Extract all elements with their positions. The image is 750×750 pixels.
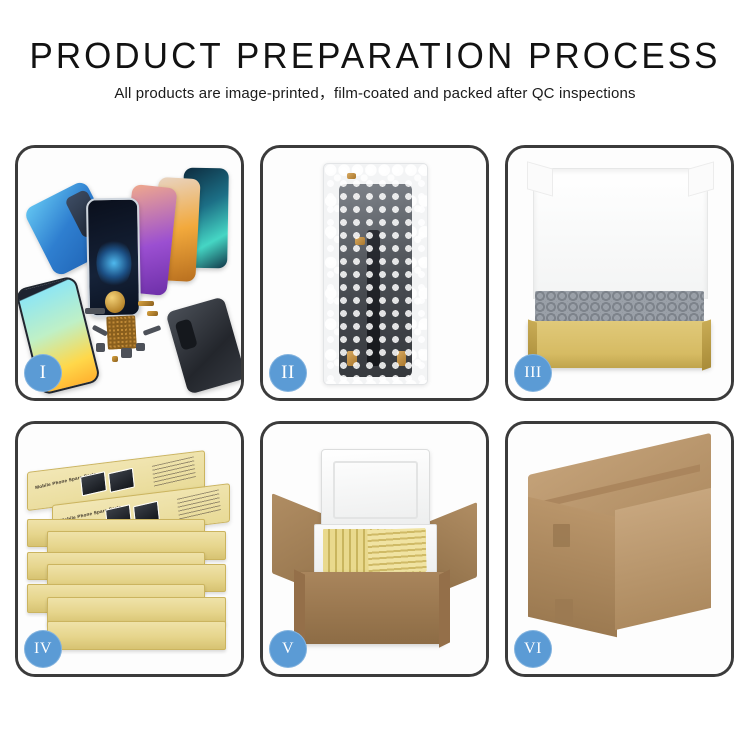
step-panel-bubble-wrap: II: [260, 145, 489, 401]
small-chip-2: [121, 348, 132, 358]
box-window-back-1: [80, 471, 107, 497]
box-stack: Mobile Phone Spare Parts Mobile Phone Sp…: [27, 449, 232, 654]
earpiece-chip: [85, 308, 105, 314]
flex-cable-1: [91, 325, 107, 337]
step-panel-carton-loading: V: [260, 421, 489, 677]
bubble-wrap-bag: [323, 163, 428, 385]
gold-connector-2: [147, 311, 158, 316]
carton-right-face: [615, 488, 711, 630]
step-panel-open-inner-box: III: [505, 145, 734, 401]
step-badge-4: IV: [24, 630, 62, 668]
bubble-texture: [324, 164, 427, 384]
box-spec-lines-back: [152, 456, 196, 488]
phone-back-housing: [166, 296, 241, 394]
gold-screw: [112, 356, 119, 363]
step-badge-2: II: [269, 354, 307, 392]
step-badge-5: V: [269, 630, 307, 668]
product-preparation-process-page: PRODUCT PREPARATION PROCESS All products…: [0, 0, 750, 750]
small-chip-3: [136, 343, 145, 351]
box-window-back-2: [108, 468, 135, 494]
stacked-box-7: [47, 621, 225, 650]
page-subtitle: All products are image-printed，film-coat…: [0, 86, 750, 101]
step-panel-stacked-boxes: Mobile Phone Spare Parts Mobile Phone Sp…: [15, 421, 244, 677]
small-chip-1: [96, 343, 105, 352]
yellow-boxes-row-2: [367, 528, 426, 572]
step-panel-sealed-carton: VI: [505, 421, 734, 677]
speaker-part-round: [105, 291, 125, 314]
process-step-grid: I II I: [15, 145, 734, 677]
step-badge-3: III: [514, 354, 552, 392]
gold-connector-1: [138, 301, 154, 307]
carton-tab-lower: [555, 599, 573, 622]
grey-bubble-padding: [535, 291, 704, 324]
carton-front-wall: [301, 572, 444, 645]
kraft-box-base: [528, 321, 711, 369]
styrofoam-lid: [321, 449, 430, 531]
logic-board-part: [106, 315, 137, 349]
page-header: PRODUCT PREPARATION PROCESS All products…: [0, 0, 750, 101]
white-foam-sheet: [533, 168, 709, 299]
step-badge-1: I: [24, 354, 62, 392]
carton-tab-upper: [553, 524, 571, 547]
page-title: PRODUCT PREPARATION PROCESS: [11, 38, 739, 74]
step-badge-6: VI: [514, 630, 552, 668]
carton-left-face: [528, 496, 617, 637]
box-spec-lines-front: [177, 489, 221, 521]
flex-cable-2: [143, 325, 161, 336]
step-panel-phone-parts: I: [15, 145, 244, 401]
